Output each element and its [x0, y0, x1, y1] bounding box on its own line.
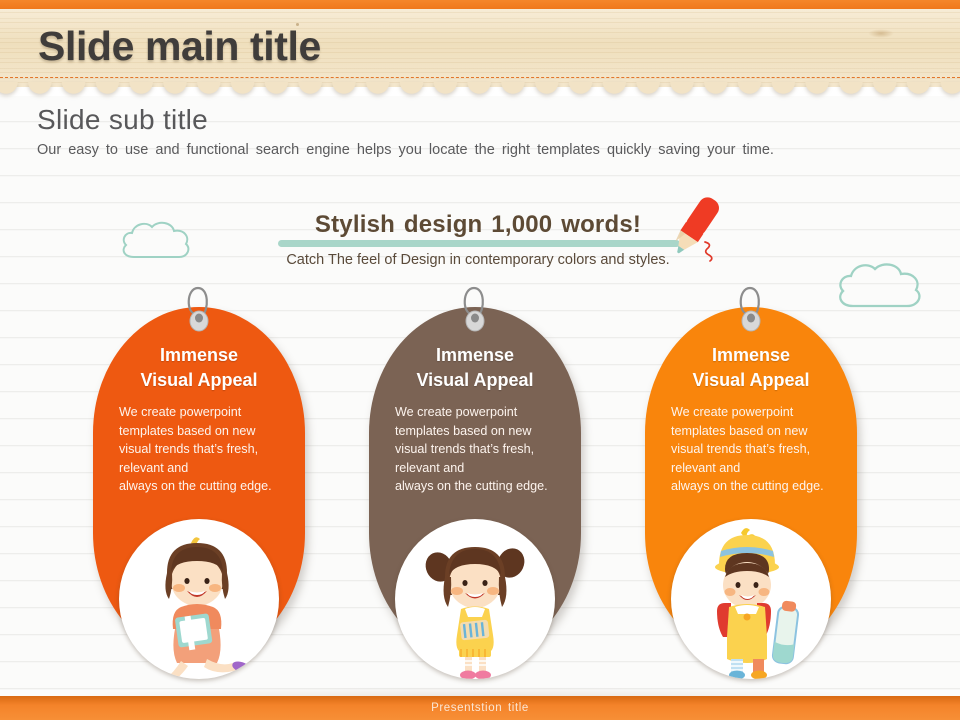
avatar [395, 519, 555, 679]
headline-title: Stylish design 1,000 words! [278, 211, 678, 239]
feature-card[interactable]: Immense Visual Appeal We create powerpoi… [93, 307, 305, 659]
pencil-icon [661, 196, 721, 267]
top-accent-bar [0, 0, 960, 9]
slide-main-title: Slide main title [38, 23, 321, 70]
card-body-text: We create powerpoint templates based on … [395, 403, 565, 496]
headline-subtitle: Catch The feel of Design in contemporary… [258, 252, 698, 268]
dashed-stitch-line [0, 77, 960, 78]
avatar [671, 519, 831, 679]
card-title-line1: Immense [93, 343, 305, 368]
cloud-icon [833, 259, 931, 311]
card-title-line1: Immense [645, 343, 857, 368]
headline-underline-bar [278, 240, 680, 247]
card-body-text: We create powerpoint templates based on … [671, 403, 841, 496]
card-title-line2: Visual Appeal [93, 368, 305, 393]
wood-knot-mark [868, 29, 894, 38]
ring-clasp-icon [182, 280, 216, 341]
card-title-line2: Visual Appeal [645, 368, 857, 393]
scalloped-edge [0, 82, 960, 98]
cloud-icon [118, 219, 194, 261]
avatar [119, 519, 279, 679]
card-body-text: We create powerpoint templates based on … [119, 403, 289, 496]
slide-sub-description: Our easy to use and functional search en… [37, 142, 774, 158]
slide-sub-title: Slide sub title [37, 104, 208, 136]
card-title-line2: Visual Appeal [369, 368, 581, 393]
feature-card[interactable]: Immense Visual Appeal We create powerpoi… [645, 307, 857, 659]
ring-clasp-icon [458, 280, 492, 341]
ring-clasp-icon [734, 280, 768, 341]
card-title: Immense Visual Appeal [645, 343, 857, 393]
card-title: Immense Visual Appeal [369, 343, 581, 393]
slide-canvas: Slide main title Slide sub title Our eas… [0, 0, 960, 720]
footer-sheen [0, 686, 960, 696]
feature-card[interactable]: Immense Visual Appeal We create powerpoi… [369, 307, 581, 659]
card-title: Immense Visual Appeal [93, 343, 305, 393]
footer-title: Presentstion title [0, 702, 960, 714]
card-title-line1: Immense [369, 343, 581, 368]
